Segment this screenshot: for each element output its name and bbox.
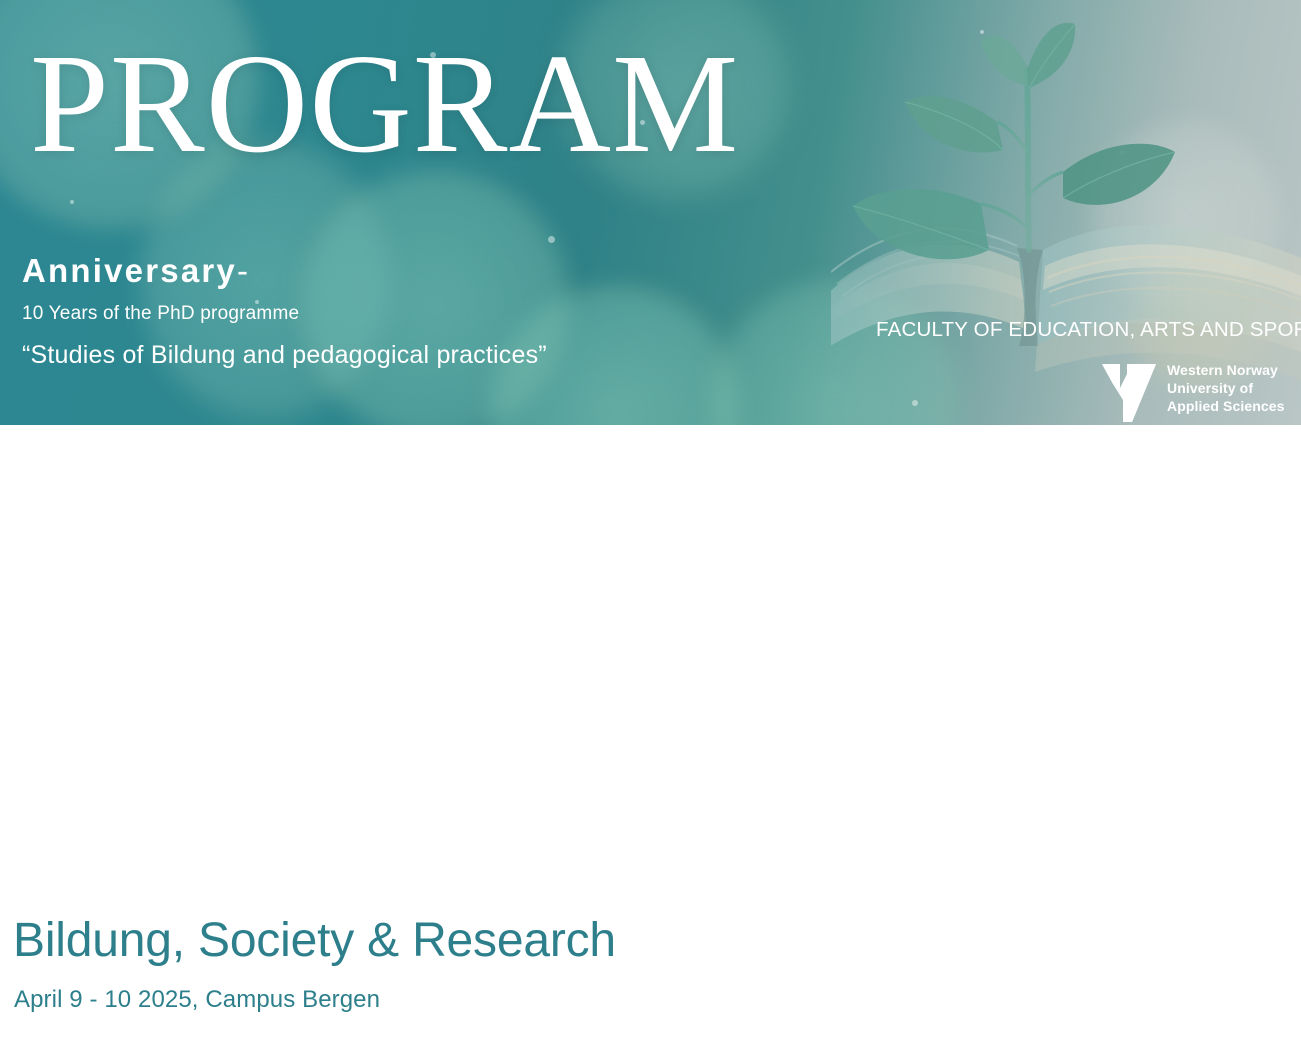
hvl-logo-line1: Western Norway: [1167, 362, 1285, 380]
sparkle-dot: [548, 236, 555, 243]
anniversary-label: Anniversary: [22, 252, 237, 289]
faculty-label: FACULTY OF EDUCATION, ARTS AND SPORTS: [876, 318, 1301, 342]
hvl-logo-line2: University of: [1167, 380, 1285, 398]
hvl-logo: Western Norway University of Applied Sci…: [1100, 362, 1285, 424]
anniversary-quote: “Studies of Bildung and pedagogical prac…: [22, 341, 547, 370]
sparkle-dot: [70, 200, 74, 204]
anniversary-heading: Anniversary-: [22, 252, 248, 290]
anniversary-subtitle: 10 Years of the PhD programme: [22, 303, 299, 325]
page-subtitle: April 9 - 10 2025, Campus Bergen: [14, 986, 380, 1014]
page-title: Bildung, Society & Research: [13, 913, 616, 968]
anniversary-dash: -: [237, 252, 248, 289]
hvl-logo-line3: Applied Sciences: [1167, 398, 1285, 416]
program-title: PROGRAM: [30, 32, 739, 174]
bokeh-circle: [300, 170, 570, 425]
hvl-v-icon: [1100, 362, 1158, 424]
program-banner: PROGRAM Anniversary- 10 Years of the PhD…: [0, 0, 1301, 425]
hvl-logo-name: Western Norway University of Applied Sci…: [1167, 362, 1285, 416]
